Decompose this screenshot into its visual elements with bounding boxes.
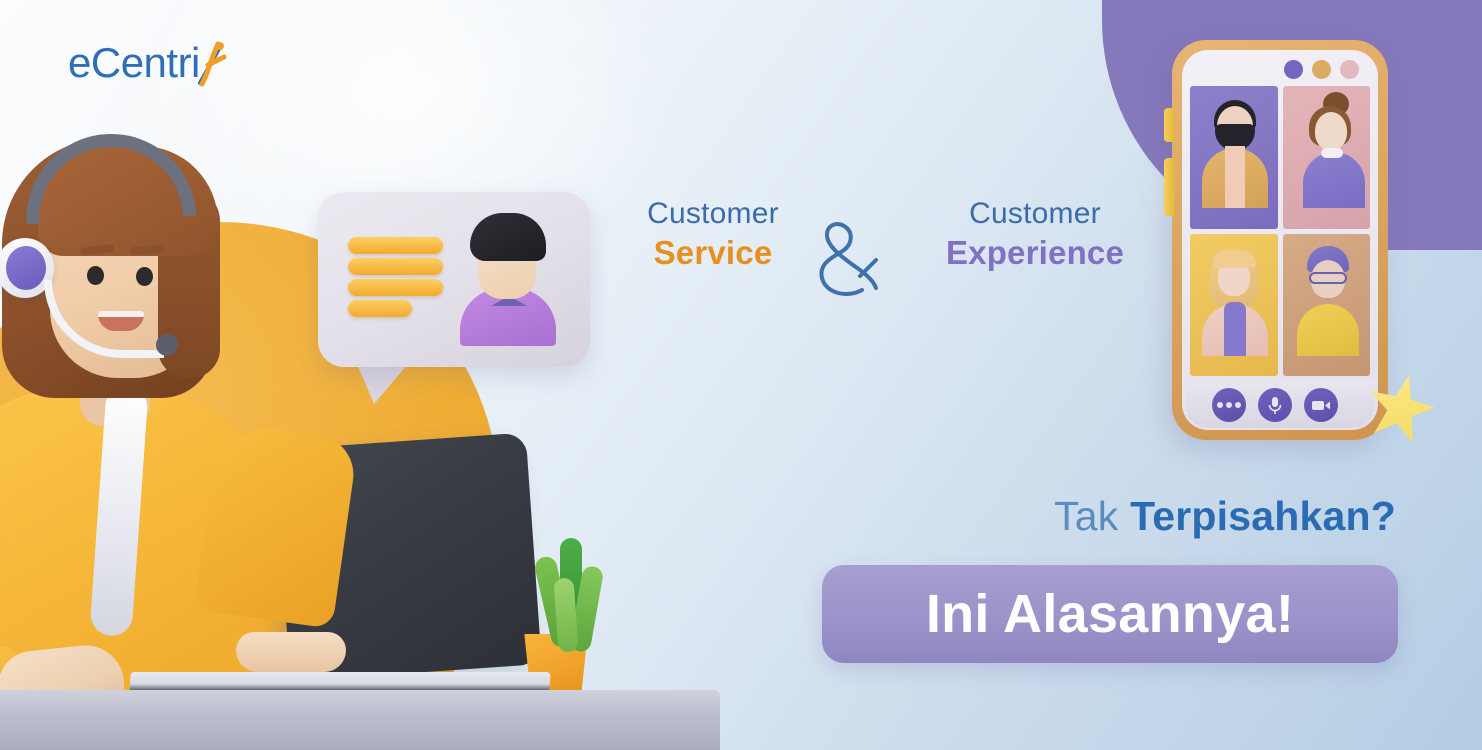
brand-logo[interactable]: eCentri xyxy=(68,38,228,88)
phone-volume-button xyxy=(1164,158,1175,216)
participant-body xyxy=(1297,304,1359,356)
window-dot xyxy=(1340,60,1359,79)
agent-typing-fingers xyxy=(236,632,346,672)
participant-tile[interactable] xyxy=(1190,234,1278,377)
participant-collar xyxy=(1321,148,1343,158)
video-camera-icon[interactable] xyxy=(1304,388,1338,422)
more-dots-icon[interactable] xyxy=(1212,388,1246,422)
glasses-icon xyxy=(1309,272,1347,284)
headset-band-icon xyxy=(22,130,196,225)
chat-text-bar xyxy=(348,237,443,254)
service-label: Service xyxy=(618,233,808,273)
desk xyxy=(0,690,720,750)
headline-terpisahkan: Terpisahkan? xyxy=(1130,493,1396,539)
dot xyxy=(1235,402,1241,408)
participant-head xyxy=(1315,112,1347,150)
participant-bangs xyxy=(1212,250,1256,268)
phone-side-button xyxy=(1164,108,1175,142)
headline-customer-experience: Customer Experience xyxy=(920,196,1150,273)
headset-earcup-inner xyxy=(6,246,46,290)
chat-text-bar xyxy=(348,279,443,296)
marketing-banner: eCentri xyxy=(0,0,1482,750)
dot xyxy=(1226,402,1232,408)
window-dots xyxy=(1284,60,1376,80)
customer-label-left: Customer xyxy=(618,196,808,233)
participant-top xyxy=(1224,302,1246,356)
headline-customer-service: Customer Service xyxy=(618,196,808,273)
participant-shirt xyxy=(1225,146,1245,208)
logo-text: eCentri xyxy=(68,42,200,84)
microphone-tip-icon xyxy=(156,334,178,356)
window-dot xyxy=(1312,60,1331,79)
chat-avatar-hair xyxy=(470,213,546,261)
microphone-icon[interactable] xyxy=(1258,388,1292,422)
headline-tak: Tak xyxy=(1054,493,1130,539)
right-headline-line1: Tak Terpisahkan? xyxy=(1054,493,1396,540)
ampersand-outline-icon xyxy=(812,218,884,296)
chat-text-bar xyxy=(348,300,412,317)
headline-highlight-box: Ini Alasannya! xyxy=(822,565,1398,663)
keyboard xyxy=(129,672,550,692)
video-call-grid xyxy=(1190,86,1370,376)
customer-label-right: Customer xyxy=(920,196,1150,233)
experience-label: Experience xyxy=(920,233,1150,273)
participant-tile[interactable] xyxy=(1283,86,1371,229)
participant-tile[interactable] xyxy=(1283,234,1371,377)
participant-tile[interactable] xyxy=(1190,86,1278,229)
participant-body xyxy=(1303,152,1365,208)
window-dot xyxy=(1284,60,1303,79)
chat-text-bar xyxy=(348,258,443,275)
headline-ini-alasannya: Ini Alasannya! xyxy=(926,587,1294,641)
dot xyxy=(1217,402,1223,408)
running-person-x-icon xyxy=(194,39,228,87)
